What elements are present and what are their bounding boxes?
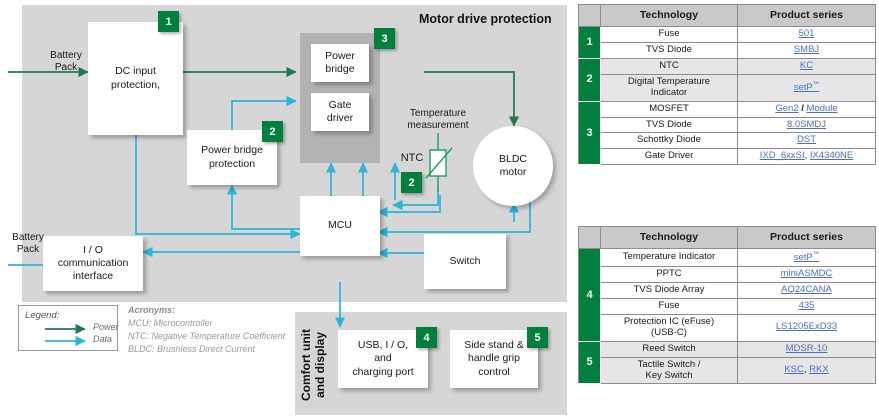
- table-row: 5Reed SwitchMDSR-10: [579, 341, 876, 357]
- table-row: Tactile Switch /Key SwitchKSC, RKX: [579, 357, 876, 384]
- legend-data-arrow-icon: [45, 336, 93, 346]
- node-label: Power bridgeprotection: [201, 144, 263, 170]
- product-link[interactable]: Module: [807, 103, 838, 114]
- product-table-1: TechnologyProduct series1Fuse501TVS Diod…: [578, 4, 876, 165]
- technology-cell: Reed Switch: [601, 341, 738, 357]
- group-number-cell: 3: [579, 101, 601, 165]
- table-row: 4Temperature IndicatorsetP™: [579, 249, 876, 267]
- node-label: DC inputprotection,: [111, 65, 160, 91]
- page-title: Motor drive protection: [419, 12, 552, 26]
- product-series-cell[interactable]: 501: [738, 27, 876, 43]
- technology-cell: Tactile Switch /Key Switch: [601, 357, 738, 384]
- legend-title: Legend:: [25, 310, 59, 321]
- product-link[interactable]: DST: [797, 134, 816, 145]
- node-usb-io-charging-port[interactable]: USB, I / O,andcharging port: [338, 330, 428, 388]
- badge-3-power-stage: 3: [374, 28, 395, 49]
- product-link[interactable]: LS1205ExD33: [776, 321, 837, 332]
- block-diagram: DC inputprotection, Powerbridge Gatedriv…: [0, 0, 570, 419]
- product-series-cell[interactable]: miniASMDC: [738, 267, 876, 283]
- table-row: Schottky DiodeDST: [579, 133, 876, 149]
- node-label: MCU: [328, 219, 352, 232]
- acronym-line: NTC: Negative Temperature Coefficient: [128, 330, 285, 343]
- product-link[interactable]: IX4340NE: [810, 150, 853, 161]
- table-header-product-series: Product series: [738, 227, 876, 249]
- legend: Legend: Power Data: [18, 305, 118, 351]
- table-row: Gate DriverIXD_6xxSI, IX4340NE: [579, 149, 876, 165]
- label-temperature-measurement: Temperaturemeasurement: [392, 108, 484, 132]
- technology-cell: Fuse: [601, 27, 738, 43]
- label-battery-pack-data: BatteryPack: [2, 232, 54, 256]
- product-link[interactable]: KSC: [784, 364, 804, 375]
- node-switch[interactable]: Switch: [424, 234, 506, 289]
- technology-cell: Digital TemperatureIndicator: [601, 74, 738, 101]
- table-header-technology: Technology: [601, 5, 738, 27]
- product-link[interactable]: Gen2: [775, 103, 798, 114]
- table-row: 3MOSFETGen2 / Module: [579, 101, 876, 117]
- table-header-technology: Technology: [601, 227, 738, 249]
- node-side-stand-handle-grip-control[interactable]: Side stand &handle gripcontrol: [450, 330, 538, 388]
- product-link[interactable]: AQ24CANA: [781, 284, 832, 295]
- technology-cell: Protection IC (eFuse)(USB-C): [601, 314, 738, 341]
- technology-cell: TVS Diode Array: [601, 283, 738, 299]
- product-link[interactable]: IXD_6xxSI: [760, 150, 805, 161]
- product-series-cell[interactable]: DST: [738, 133, 876, 149]
- table-header-product-series: Product series: [738, 5, 876, 27]
- legend-power-arrow-icon: [45, 324, 93, 334]
- technology-cell: Fuse: [601, 298, 738, 314]
- node-label: Switch: [450, 255, 481, 268]
- node-label: Side stand &handle gripcontrol: [464, 339, 524, 378]
- table-header-number: [579, 227, 601, 249]
- node-label: USB, I / O,andcharging port: [352, 339, 413, 378]
- technology-cell: PPTC: [601, 267, 738, 283]
- legend-data-label: Data: [93, 334, 112, 344]
- node-label: I / Ocommunicationinterface: [58, 244, 129, 283]
- product-link[interactable]: 435: [799, 300, 815, 311]
- product-link[interactable]: setP™: [794, 252, 820, 263]
- product-table-2: TechnologyProduct series4Temperature Ind…: [578, 226, 876, 384]
- product-series-cell[interactable]: 8.0SMDJ: [738, 117, 876, 133]
- table-row: TVS DiodeSMBJ: [579, 42, 876, 58]
- table-row: Fuse435: [579, 298, 876, 314]
- product-series-cell[interactable]: LS1205ExD33: [738, 314, 876, 341]
- technology-cell: Gate Driver: [601, 149, 738, 165]
- badge-5-side-stand: 5: [527, 327, 548, 348]
- node-mcu[interactable]: MCU: [300, 196, 380, 256]
- node-gate-driver[interactable]: Gatedriver: [311, 93, 369, 131]
- technology-cell: MOSFET: [601, 101, 738, 117]
- acronyms-heading: Acronyms:: [128, 304, 285, 317]
- technology-cell: Temperature Indicator: [601, 249, 738, 267]
- screenshot-root: DC inputprotection, Powerbridge Gatedriv…: [0, 0, 879, 419]
- comfort-unit-title: Comfort unitand display: [300, 320, 330, 410]
- table-header-row: TechnologyProduct series: [579, 5, 876, 27]
- label-battery-pack-power: BatteryPack: [36, 50, 96, 74]
- product-series-cell[interactable]: setP™: [738, 74, 876, 101]
- table-header-row: TechnologyProduct series: [579, 227, 876, 249]
- group-number-cell: 4: [579, 249, 601, 342]
- acronym-line: BLDC: Brushless Direct Current: [128, 343, 285, 356]
- acronyms-block: Acronyms: MCU: Microcontroller NTC: Nega…: [128, 304, 285, 356]
- table-row: PPTCminiASMDC: [579, 267, 876, 283]
- product-series-cell[interactable]: MDSR-10: [738, 341, 876, 357]
- table-row: TVS Diode8.0SMDJ: [579, 117, 876, 133]
- node-io-communication-interface[interactable]: I / Ocommunicationinterface: [43, 236, 143, 291]
- product-link[interactable]: miniASMDC: [781, 268, 833, 279]
- node-label: Powerbridge: [325, 50, 355, 76]
- node-power-bridge[interactable]: Powerbridge: [311, 44, 369, 82]
- product-series-cell[interactable]: AQ24CANA: [738, 283, 876, 299]
- table-row: TVS Diode ArrayAQ24CANA: [579, 283, 876, 299]
- group-number-cell: 1: [579, 27, 601, 59]
- badge-2-power-bridge-protection: 2: [262, 121, 283, 142]
- product-series-cell[interactable]: IXD_6xxSI, IX4340NE: [738, 149, 876, 165]
- product-link[interactable]: 501: [799, 28, 815, 39]
- table-row: Protection IC (eFuse)(USB-C)LS1205ExD33: [579, 314, 876, 341]
- product-link[interactable]: KC: [800, 60, 813, 71]
- product-series-cell[interactable]: setP™: [738, 249, 876, 267]
- badge-4-usb-io: 4: [416, 327, 437, 348]
- node-bldc-motor[interactable]: BLDCmotor: [473, 126, 553, 206]
- acronym-line: MCU: Microcontroller: [128, 317, 285, 330]
- badge-2-ntc: 2: [401, 172, 422, 193]
- product-series-cell[interactable]: SMBJ: [738, 42, 876, 58]
- technology-cell: Schottky Diode: [601, 133, 738, 149]
- product-link[interactable]: SMBJ: [794, 44, 819, 55]
- table-row: 2NTCKC: [579, 58, 876, 74]
- group-number-cell: 5: [579, 341, 601, 384]
- technology-cell: NTC: [601, 58, 738, 74]
- product-series-cell[interactable]: Gen2 / Module: [738, 101, 876, 117]
- group-number-cell: 2: [579, 58, 601, 101]
- technology-cell: TVS Diode: [601, 42, 738, 58]
- table-header-number: [579, 5, 601, 27]
- legend-power-label: Power: [93, 322, 119, 332]
- product-series-cell[interactable]: 435: [738, 298, 876, 314]
- table-row: 1Fuse501: [579, 27, 876, 43]
- node-dc-input-protection[interactable]: DC inputprotection,: [88, 22, 183, 135]
- product-link[interactable]: setP™: [794, 82, 820, 93]
- label-ntc: NTC: [396, 152, 428, 165]
- product-link[interactable]: RKX: [809, 364, 829, 375]
- product-series-cell[interactable]: KC: [738, 58, 876, 74]
- product-link[interactable]: 8.0SMDJ: [787, 119, 826, 130]
- node-label: BLDCmotor: [499, 153, 527, 179]
- product-link[interactable]: MDSR-10: [786, 343, 828, 354]
- badge-1-dc-input: 1: [158, 11, 179, 32]
- table-row: Digital TemperatureIndicatorsetP™: [579, 74, 876, 101]
- product-series-cell[interactable]: KSC, RKX: [738, 357, 876, 384]
- node-label: Gatedriver: [327, 99, 353, 125]
- technology-cell: TVS Diode: [601, 117, 738, 133]
